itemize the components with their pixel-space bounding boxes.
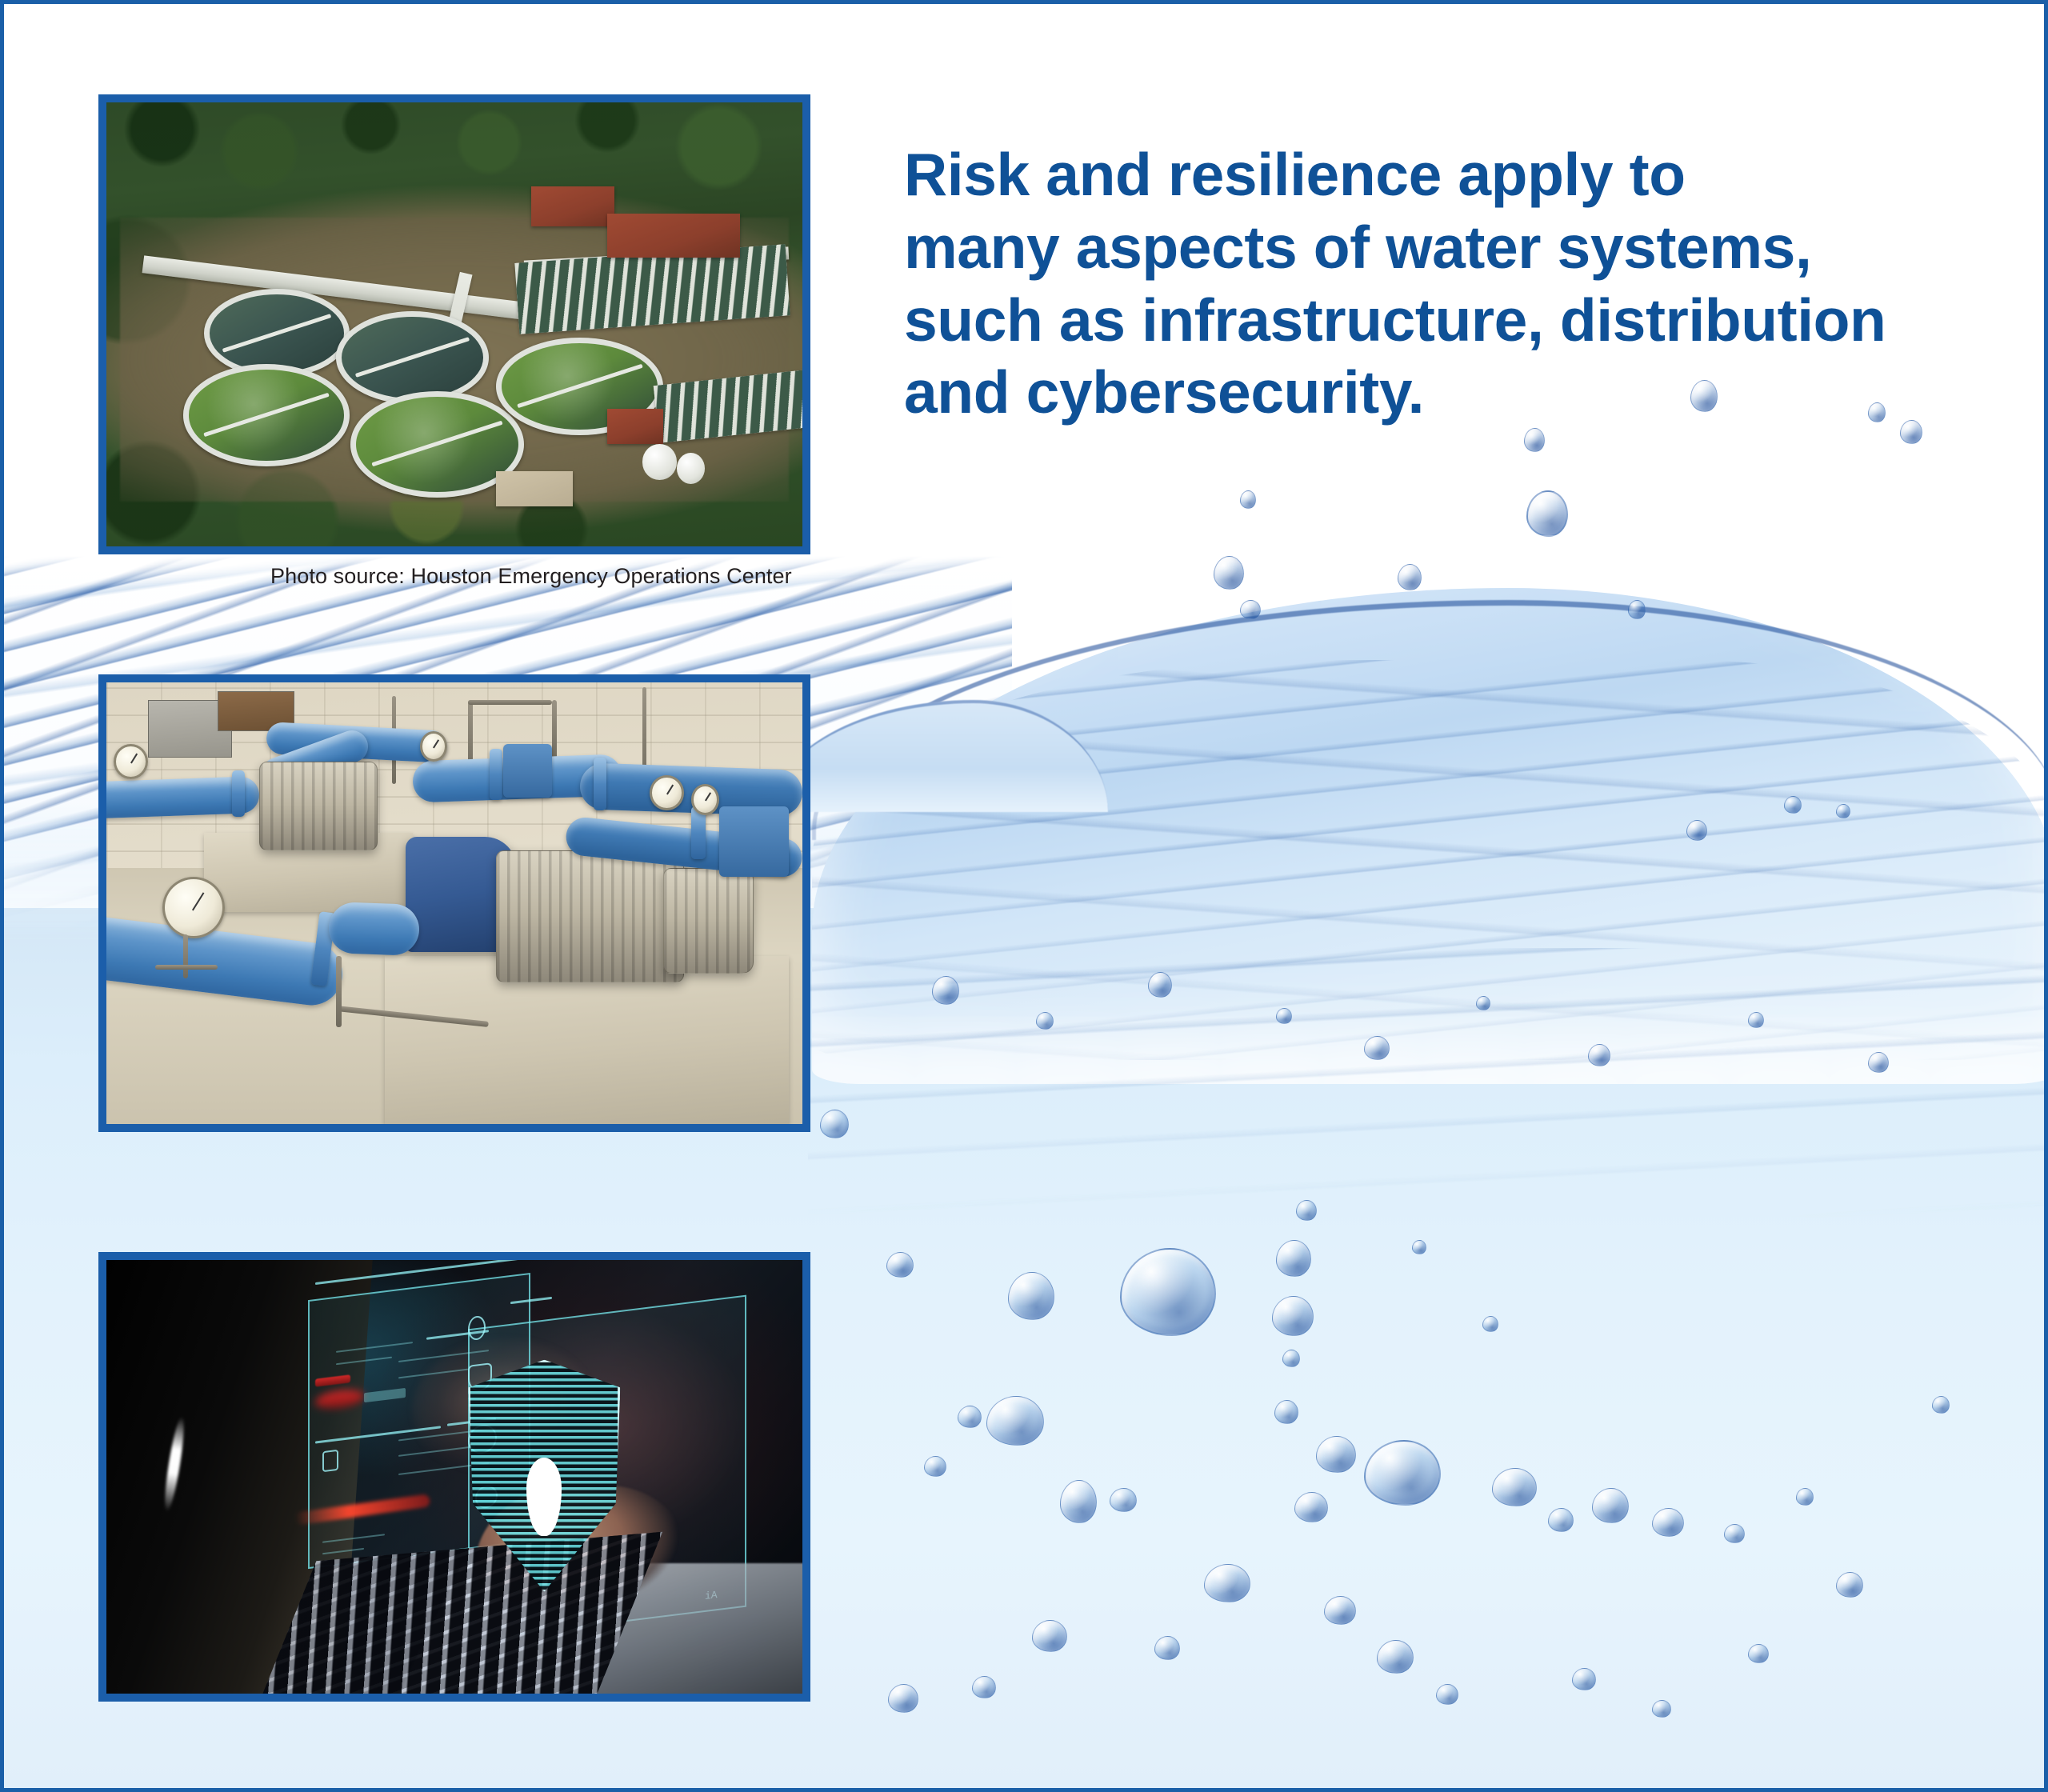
pipe-flange — [232, 770, 245, 817]
water-droplet — [1148, 972, 1172, 998]
plant-building — [607, 214, 739, 258]
water-droplet — [1628, 600, 1646, 619]
underwater-bubble — [1932, 1396, 1950, 1414]
underwater-bubble — [1316, 1436, 1356, 1473]
water-droplet — [820, 1110, 849, 1138]
underwater-bubble — [972, 1676, 996, 1698]
lock-icon — [322, 1450, 338, 1472]
underwater-bubble — [1548, 1508, 1574, 1532]
underwater-bubble — [1572, 1668, 1596, 1690]
clarifier-tank — [336, 311, 489, 405]
pump-motor-fan-end — [663, 868, 754, 974]
underwater-bubble — [1836, 1572, 1863, 1598]
underwater-bubble — [1324, 1596, 1356, 1625]
water-droplet — [1526, 490, 1568, 537]
water-droplet — [1524, 428, 1545, 452]
underwater-bubble — [1748, 1644, 1769, 1663]
underwater-bubble — [888, 1684, 918, 1713]
underwater-bubble — [1294, 1492, 1328, 1522]
gate-valve — [503, 744, 552, 797]
underwater-bubble — [958, 1406, 982, 1428]
water-droplet — [1784, 796, 1802, 814]
water-droplet — [1276, 1008, 1292, 1024]
water-churn-band — [808, 948, 2044, 1220]
underwater-bubble — [1492, 1468, 1537, 1506]
pipe-flange — [594, 758, 606, 810]
water-droplet — [1240, 600, 1261, 619]
water-droplet — [1836, 804, 1850, 818]
underwater-bubble — [886, 1252, 914, 1278]
underwater-bubble — [1482, 1316, 1498, 1332]
page-title: Risk and resilience apply to many aspect… — [904, 138, 2000, 429]
water-droplet — [1036, 1012, 1054, 1030]
butterfly-valve — [719, 806, 789, 877]
wall-conduit — [552, 700, 557, 762]
underwater-bubble — [1032, 1620, 1067, 1652]
underwater-bubble — [1377, 1640, 1414, 1674]
underwater-bubble — [1272, 1296, 1314, 1336]
underwater-bubble — [1204, 1564, 1250, 1602]
clarifier-tank — [183, 364, 350, 466]
pump-motor — [259, 762, 378, 850]
wall-conduit — [468, 700, 551, 705]
photo-cybersecurity-laptop: iA — [98, 1252, 810, 1702]
underwater-bubble — [1008, 1272, 1054, 1320]
photo-source-caption: Photo source: Houston Emergency Operatio… — [270, 564, 792, 589]
underwater-bubble — [1282, 1350, 1300, 1367]
pressure-gauge — [650, 775, 685, 810]
underwater-bubble — [1592, 1488, 1629, 1523]
water-droplet — [1588, 1044, 1610, 1066]
underwater-bubble — [1796, 1488, 1814, 1506]
pipe-flange — [490, 749, 502, 800]
underwater-bubble — [1412, 1240, 1426, 1254]
underwater-bubble — [1364, 1440, 1441, 1506]
pump-motor — [496, 850, 684, 983]
slide-canvas: Risk and resilience apply to many aspect… — [0, 0, 2048, 1792]
water-droplet — [1686, 820, 1707, 841]
underwater-bubble — [1652, 1700, 1671, 1718]
keyhole-icon — [526, 1458, 562, 1534]
underwater-bubble — [1110, 1488, 1137, 1512]
small-pipe — [183, 934, 188, 978]
underwater-bubble — [1060, 1480, 1097, 1523]
water-droplet — [1398, 564, 1422, 590]
underwater-bubble — [986, 1396, 1044, 1446]
underwater-bubble — [1276, 1240, 1311, 1277]
storage-tank — [642, 444, 678, 479]
water-droplet — [1214, 556, 1244, 590]
underwater-bubble — [1296, 1200, 1317, 1221]
pressure-gauge — [162, 877, 225, 938]
underwater-bubble — [1436, 1684, 1458, 1705]
water-droplet — [1476, 996, 1490, 1010]
water-droplet — [1364, 1036, 1390, 1060]
underwater-bubble — [1154, 1636, 1180, 1660]
floor-conduit — [336, 956, 342, 1026]
underwater-bubble — [924, 1456, 946, 1477]
underwater-bubble — [1724, 1524, 1745, 1543]
water-pipe — [328, 902, 420, 956]
photo-flooded-water-treatment-plant — [98, 94, 810, 554]
water-droplet — [1748, 1012, 1764, 1028]
plant-building — [531, 186, 614, 226]
underwater-bubble — [1652, 1508, 1684, 1537]
underwater-bubble — [1120, 1248, 1216, 1336]
photo-pump-station-interior — [98, 674, 810, 1132]
water-droplet — [932, 976, 959, 1005]
plant-building — [496, 471, 573, 506]
underwater-bubble — [1274, 1400, 1298, 1424]
water-droplet — [1240, 490, 1256, 509]
plant-building — [607, 409, 663, 444]
pressure-gauge — [691, 784, 719, 815]
water-droplet — [1868, 1052, 1889, 1073]
small-pipe — [155, 965, 218, 970]
